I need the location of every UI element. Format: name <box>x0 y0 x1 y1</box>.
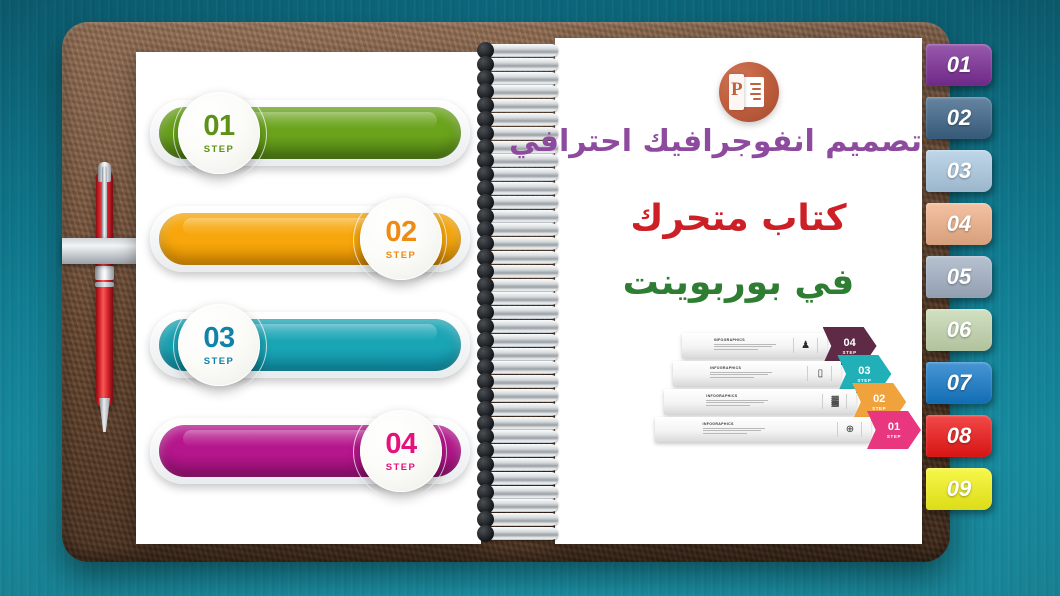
mini-step-number: 01 <box>888 422 900 433</box>
spiral-coil <box>480 168 558 181</box>
title-line-2: في بوربوينت <box>555 262 922 303</box>
mini-divider <box>837 422 838 437</box>
mini-infographic: INFOGRAPHICS♟04STEPINFOGRAPHICS▯03STEPIN… <box>655 333 911 479</box>
side-tab-02[interactable]: 02 <box>926 97 992 139</box>
spiral-coil <box>480 58 558 71</box>
side-tab-label: 07 <box>947 370 971 396</box>
spiral-coil <box>480 320 558 333</box>
globe-icon: ⊕ <box>844 424 856 436</box>
mini-step-label: STEP <box>857 378 871 383</box>
pen-ring <box>95 266 114 280</box>
spiral-coil <box>480 99 558 112</box>
mini-divider <box>817 338 818 353</box>
step-label: STEP <box>204 356 234 367</box>
spiral-coil <box>480 279 558 292</box>
mini-step-label: STEP <box>843 350 857 355</box>
side-tab-label: 03 <box>947 158 971 184</box>
spiral-coil <box>480 458 558 471</box>
spiral-coil <box>480 251 558 264</box>
pen-illustration <box>80 146 130 416</box>
step-number: 02 <box>385 218 416 247</box>
side-tab-09[interactable]: 09 <box>926 468 992 510</box>
mini-step-number: 04 <box>843 338 855 349</box>
title-line-1: كتاب متحرك <box>555 198 922 239</box>
spiral-coil <box>480 196 558 209</box>
step-label: STEP <box>386 462 416 473</box>
powerpoint-letter: P <box>731 79 743 101</box>
spiral-coil <box>480 375 558 388</box>
spiral-coil <box>480 44 558 57</box>
mini-divider <box>831 366 832 381</box>
spiral-coil <box>480 85 558 98</box>
side-tab-label: 09 <box>947 476 971 502</box>
powerpoint-icon: P <box>719 62 779 122</box>
step-number: 04 <box>385 430 416 459</box>
spiral-coil <box>480 389 558 402</box>
spiral-binding <box>480 44 562 544</box>
spiral-coil <box>480 348 558 361</box>
step-item-01[interactable]: 01STEP <box>150 96 470 170</box>
step-list: 01STEP02STEP03STEP04STEP <box>150 96 470 520</box>
mini-text-lines <box>703 428 765 435</box>
spiral-coil <box>480 334 558 347</box>
spiral-coil <box>480 527 558 540</box>
spiral-coil <box>480 72 558 85</box>
mini-divider <box>793 338 794 353</box>
side-tab-07[interactable]: 07 <box>926 362 992 404</box>
step-number: 03 <box>203 324 234 353</box>
pen-ring-lower <box>95 282 114 287</box>
spiral-coil <box>480 472 558 485</box>
spiral-coil <box>480 417 558 430</box>
step-badge[interactable]: 04STEP <box>360 410 442 492</box>
step-item-03[interactable]: 03STEP <box>150 308 470 382</box>
mini-heading: INFOGRAPHICS <box>714 338 745 342</box>
side-index-tabs: 010203040506070809 <box>926 44 1000 544</box>
side-tab-06[interactable]: 06 <box>926 309 992 351</box>
side-tab-label: 04 <box>947 211 971 237</box>
mini-text-lines <box>714 344 776 351</box>
spiral-coil <box>480 292 558 305</box>
spiral-coil <box>480 403 558 416</box>
mini-divider <box>861 422 862 437</box>
spiral-coil <box>480 210 558 223</box>
side-tab-label: 06 <box>947 317 971 343</box>
spiral-coil <box>480 223 558 236</box>
step-badge[interactable]: 03STEP <box>178 304 260 386</box>
side-tab-label: 02 <box>947 105 971 131</box>
mini-heading: INFOGRAPHICS <box>703 422 734 426</box>
mini-step-label: STEP <box>887 434 901 439</box>
spiral-coil <box>480 444 558 457</box>
step-label: STEP <box>386 250 416 261</box>
spiral-coil <box>480 265 558 278</box>
mini-text-lines <box>706 400 768 407</box>
mini-step-number: 03 <box>858 366 870 377</box>
step-badge[interactable]: 01STEP <box>178 92 260 174</box>
side-tab-label: 05 <box>947 264 971 290</box>
step-badge[interactable]: 02STEP <box>360 198 442 280</box>
user-icon: ♟ <box>800 340 812 352</box>
pen-clip-icon <box>102 166 107 248</box>
step-item-04[interactable]: 04STEP <box>150 414 470 488</box>
side-tab-04[interactable]: 04 <box>926 203 992 245</box>
slide-canvas: 01STEP02STEP03STEP04STEP P تصميم انفوجرا… <box>0 0 1060 596</box>
spiral-coil <box>480 486 558 499</box>
mobile-icon: ▯ <box>814 368 826 380</box>
side-tab-01[interactable]: 01 <box>926 44 992 86</box>
chart-icon: ▓ <box>829 396 841 408</box>
mini-divider <box>846 394 847 409</box>
spiral-coil <box>480 513 558 526</box>
mini-divider <box>822 394 823 409</box>
mini-step-number: 02 <box>873 394 885 405</box>
spiral-coil <box>480 499 558 512</box>
step-label: STEP <box>204 144 234 155</box>
spiral-coil <box>480 430 558 443</box>
mini-text-lines <box>710 372 772 379</box>
spiral-coil <box>480 306 558 319</box>
mini-step-label: STEP <box>872 406 886 411</box>
step-item-02[interactable]: 02STEP <box>150 202 470 276</box>
side-tab-08[interactable]: 08 <box>926 415 992 457</box>
spiral-coil <box>480 237 558 250</box>
spiral-coil <box>480 182 558 195</box>
mini-heading: INFOGRAPHICS <box>710 366 741 370</box>
headline-text: تصميم انفوجرافيك احترافي <box>555 124 922 159</box>
side-tab-03[interactable]: 03 <box>926 150 992 192</box>
mini-divider <box>807 366 808 381</box>
side-tab-label: 01 <box>947 52 971 78</box>
spiral-coil <box>480 361 558 374</box>
mini-heading: INFOGRAPHICS <box>706 394 737 398</box>
side-tab-label: 08 <box>947 423 971 449</box>
side-tab-05[interactable]: 05 <box>926 256 992 298</box>
step-number: 01 <box>203 112 234 141</box>
